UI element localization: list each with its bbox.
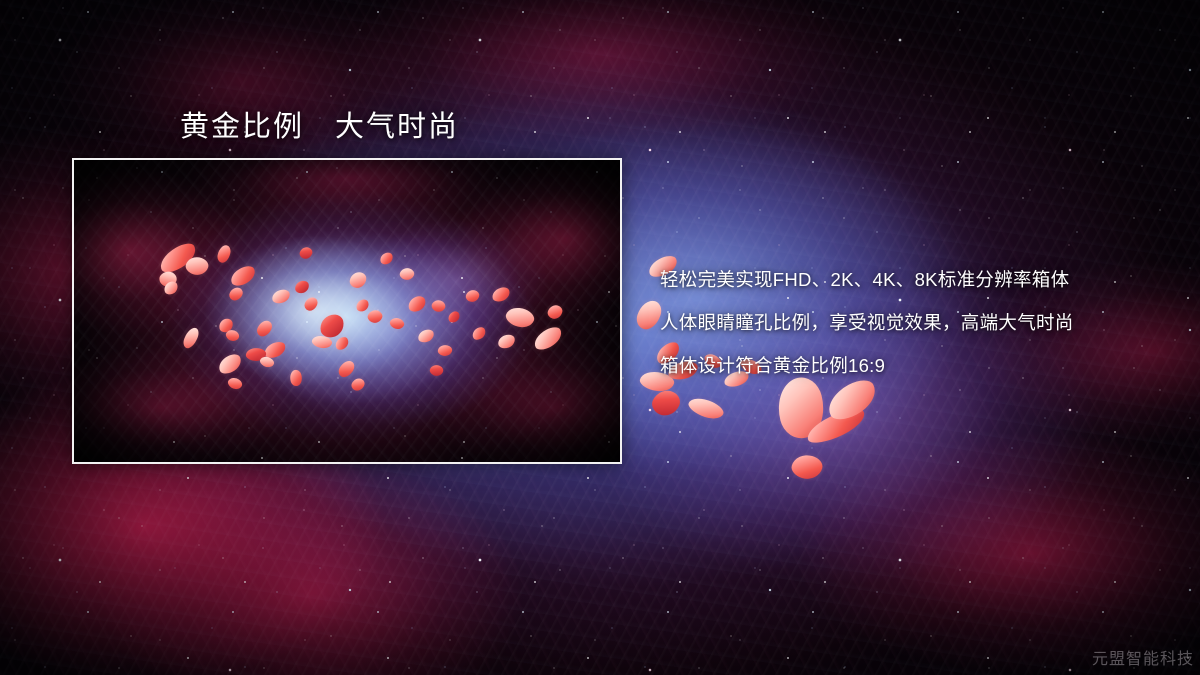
petal-icon (465, 289, 481, 304)
petal-icon (336, 358, 356, 380)
petal-icon (255, 318, 274, 339)
petal-icon (303, 295, 319, 312)
petal-icon (649, 386, 684, 421)
frame-petal-group (74, 160, 620, 462)
petal-icon (262, 340, 287, 360)
petal-icon (354, 298, 370, 313)
petal-icon (491, 286, 512, 303)
petal-icon (228, 263, 258, 288)
petal-icon (227, 285, 244, 303)
frame-vignette (74, 160, 620, 462)
petal-icon (298, 245, 313, 260)
petal-icon (497, 334, 516, 350)
frame-nebula-blue-core (74, 160, 620, 462)
frame-nebula-base (74, 160, 620, 462)
petal-icon (546, 303, 563, 320)
frame-starfield-icon (74, 160, 620, 462)
petal-icon (294, 280, 310, 294)
petal-icon (350, 376, 366, 393)
petal-icon (162, 280, 179, 296)
petal-icon (216, 244, 231, 264)
petal-icon (446, 310, 461, 324)
body-copy-line-1: 轻松完美实现FHD、2K、4K、8K标准分辨率箱体 (660, 258, 1170, 301)
page-title: 黄金比例 大气时尚 (180, 103, 459, 145)
presentation-slide: 黄金比例 大气时尚 轻松完美实现FHD、2K、4K、8K标准分辨率箱体 人体眼睛… (0, 0, 1200, 675)
petal-icon (531, 324, 565, 353)
body-copy-line-3: 箱体设计符合黄金比例16:9 (660, 344, 1170, 387)
body-copy-line-2: 人体眼睛瞳孔比例，享受视觉效果，高端大气时尚 (660, 301, 1170, 344)
petal-icon (258, 354, 275, 369)
frame-filament-texture (74, 160, 620, 462)
petal-icon (388, 315, 406, 331)
petal-icon (803, 404, 869, 448)
frame-nebula-red (74, 160, 620, 462)
petal-icon (430, 297, 447, 314)
petal-icon (789, 451, 824, 482)
nebula-photo-frame (72, 158, 622, 464)
petal-icon (366, 308, 384, 326)
petal-icon (245, 347, 267, 363)
frame-starfield-bright-icon (74, 160, 620, 462)
watermark: 元盟智能科技 (1092, 645, 1194, 669)
petal-icon (686, 393, 726, 423)
petal-icon (470, 325, 488, 341)
petal-icon (271, 289, 291, 305)
petal-icon (503, 303, 536, 331)
petal-icon (218, 317, 235, 333)
petal-icon (184, 254, 210, 278)
body-copy-block: 轻松完美实现FHD、2K、4K、8K标准分辨率箱体 人体眼睛瞳孔比例，享受视觉效… (660, 258, 1170, 387)
petal-icon (216, 352, 245, 377)
petal-icon (437, 344, 453, 358)
petal-icon (398, 266, 415, 282)
petal-icon (311, 333, 334, 350)
petal-icon (181, 326, 200, 351)
petal-icon (428, 363, 444, 378)
petal-icon (318, 313, 346, 340)
petal-icon (156, 239, 201, 276)
petal-icon (406, 294, 428, 313)
petal-icon (288, 369, 304, 388)
petal-icon (379, 251, 395, 265)
petal-icon (349, 271, 368, 290)
petal-icon (226, 375, 244, 392)
petal-icon (333, 335, 351, 352)
petal-icon (417, 328, 435, 343)
petal-icon (224, 327, 241, 344)
petal-icon (157, 268, 180, 291)
